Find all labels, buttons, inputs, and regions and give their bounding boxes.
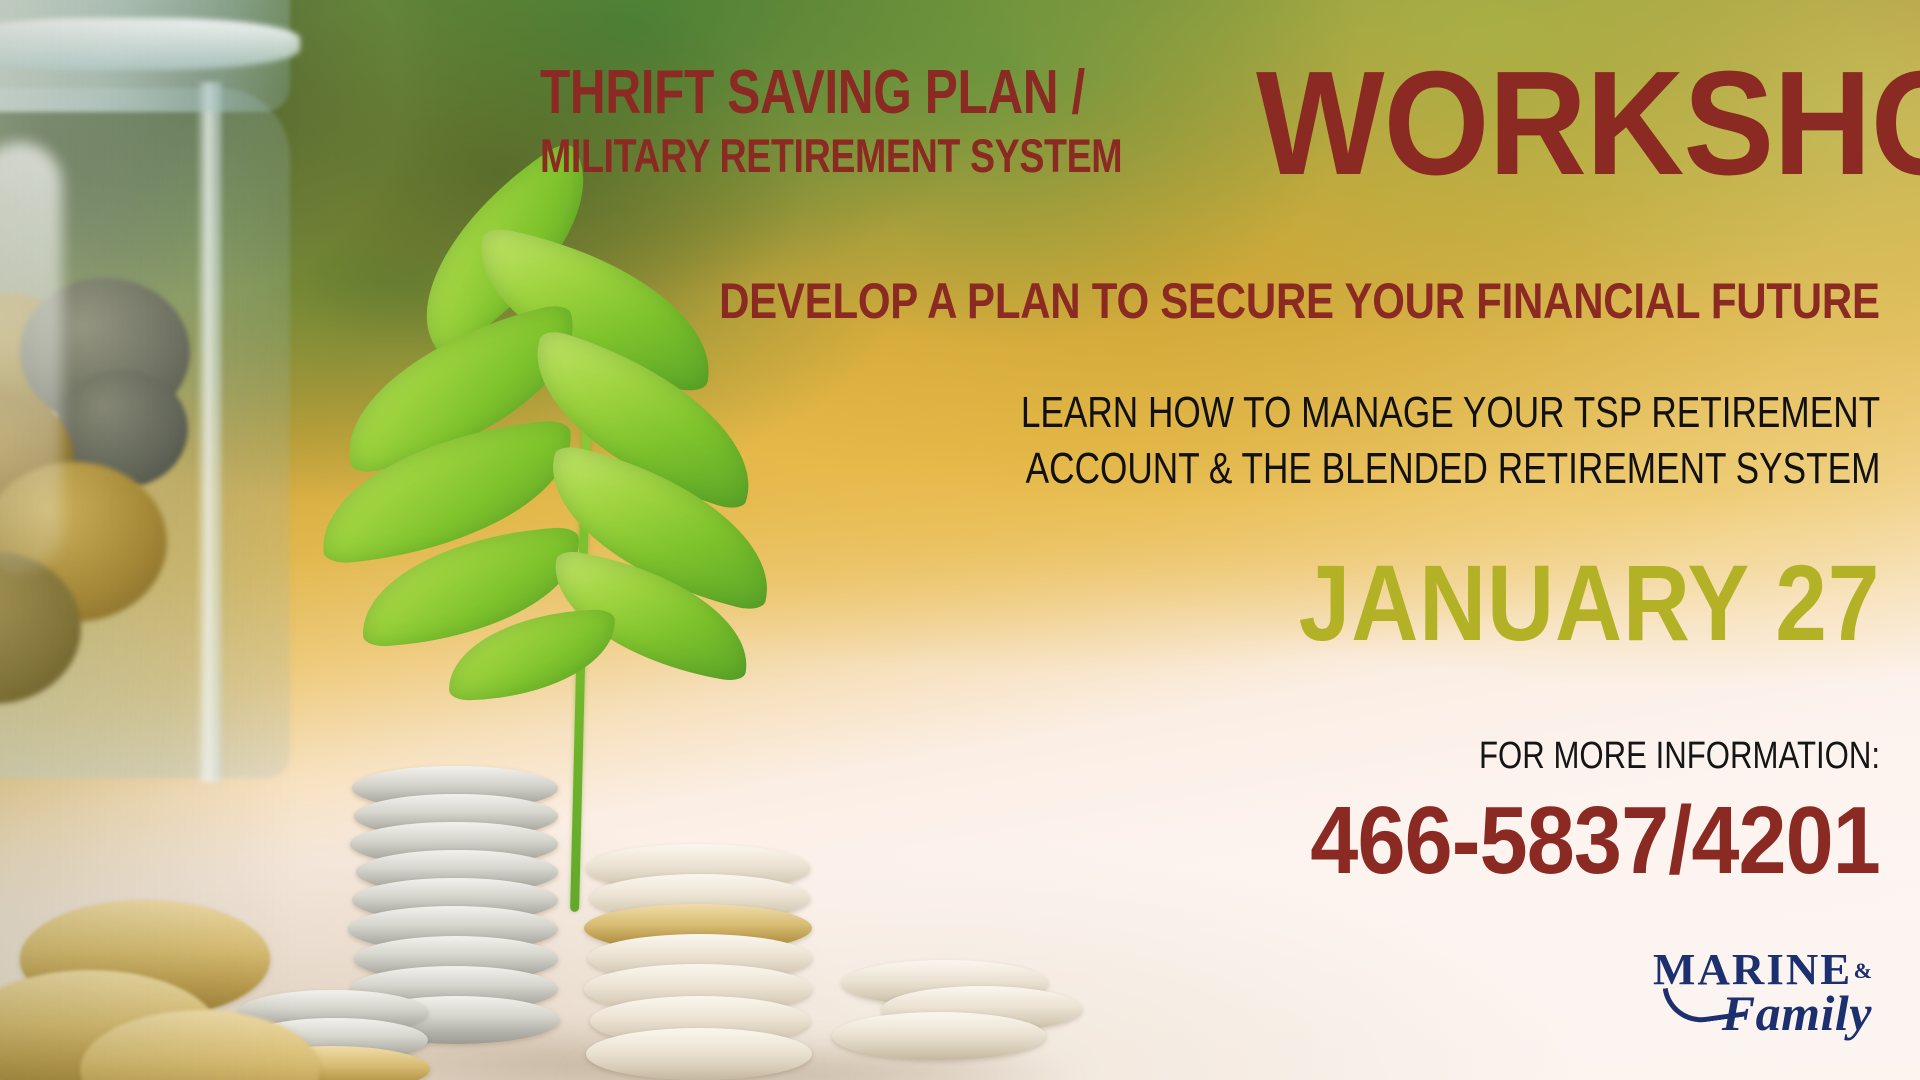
headline-line-2: MILITARY RETIREMENT SYSTEM: [540, 132, 1122, 179]
tagline: DEVELOP A PLAN TO SECURE YOUR FINANCIAL …: [0, 272, 1880, 330]
headline-workshop: WORKSHOP: [1256, 56, 1920, 192]
body-line: LEARN HOW TO MANAGE YOUR TSP RETIREMENT: [0, 385, 1880, 441]
logo-ampersand: &: [1854, 958, 1872, 983]
tagline-text: DEVELOP A PLAN TO SECURE YOUR FINANCIAL …: [719, 272, 1880, 330]
event-date: JANUARY 27: [0, 540, 1880, 665]
flyer-content: THRIFT SAVING PLAN / MILITARY RETIREMENT…: [0, 0, 1920, 1080]
event-date-text: JANUARY 27: [1298, 540, 1880, 665]
workshop-flyer: THRIFT SAVING PLAN / MILITARY RETIREMENT…: [0, 0, 1920, 1080]
body-line-2-text: ACCOUNT & THE BLENDED RETIREMENT SYSTEM: [1025, 441, 1880, 497]
contact-phone-text: 466-5837/4201: [1310, 786, 1880, 896]
body-copy: LEARN HOW TO MANAGE YOUR TSP RETIREMENT …: [0, 385, 1880, 498]
contact-phone: 466-5837/4201: [0, 786, 1880, 896]
headline-line-1: THRIFT SAVING PLAN /: [540, 62, 1085, 124]
headline-subject: THRIFT SAVING PLAN / MILITARY RETIREMENT…: [540, 56, 1268, 179]
headline-block: THRIFT SAVING PLAN / MILITARY RETIREMENT…: [540, 56, 1880, 192]
body-line: ACCOUNT & THE BLENDED RETIREMENT SYSTEM: [0, 441, 1880, 497]
marine-and-family-logo: MARINE& Family: [1655, 948, 1872, 1038]
contact-label: FOR MORE INFORMATION:: [0, 735, 1880, 778]
body-line-1-text: LEARN HOW TO MANAGE YOUR TSP RETIREMENT: [1021, 385, 1880, 441]
contact-label-text: FOR MORE INFORMATION:: [1479, 735, 1880, 778]
